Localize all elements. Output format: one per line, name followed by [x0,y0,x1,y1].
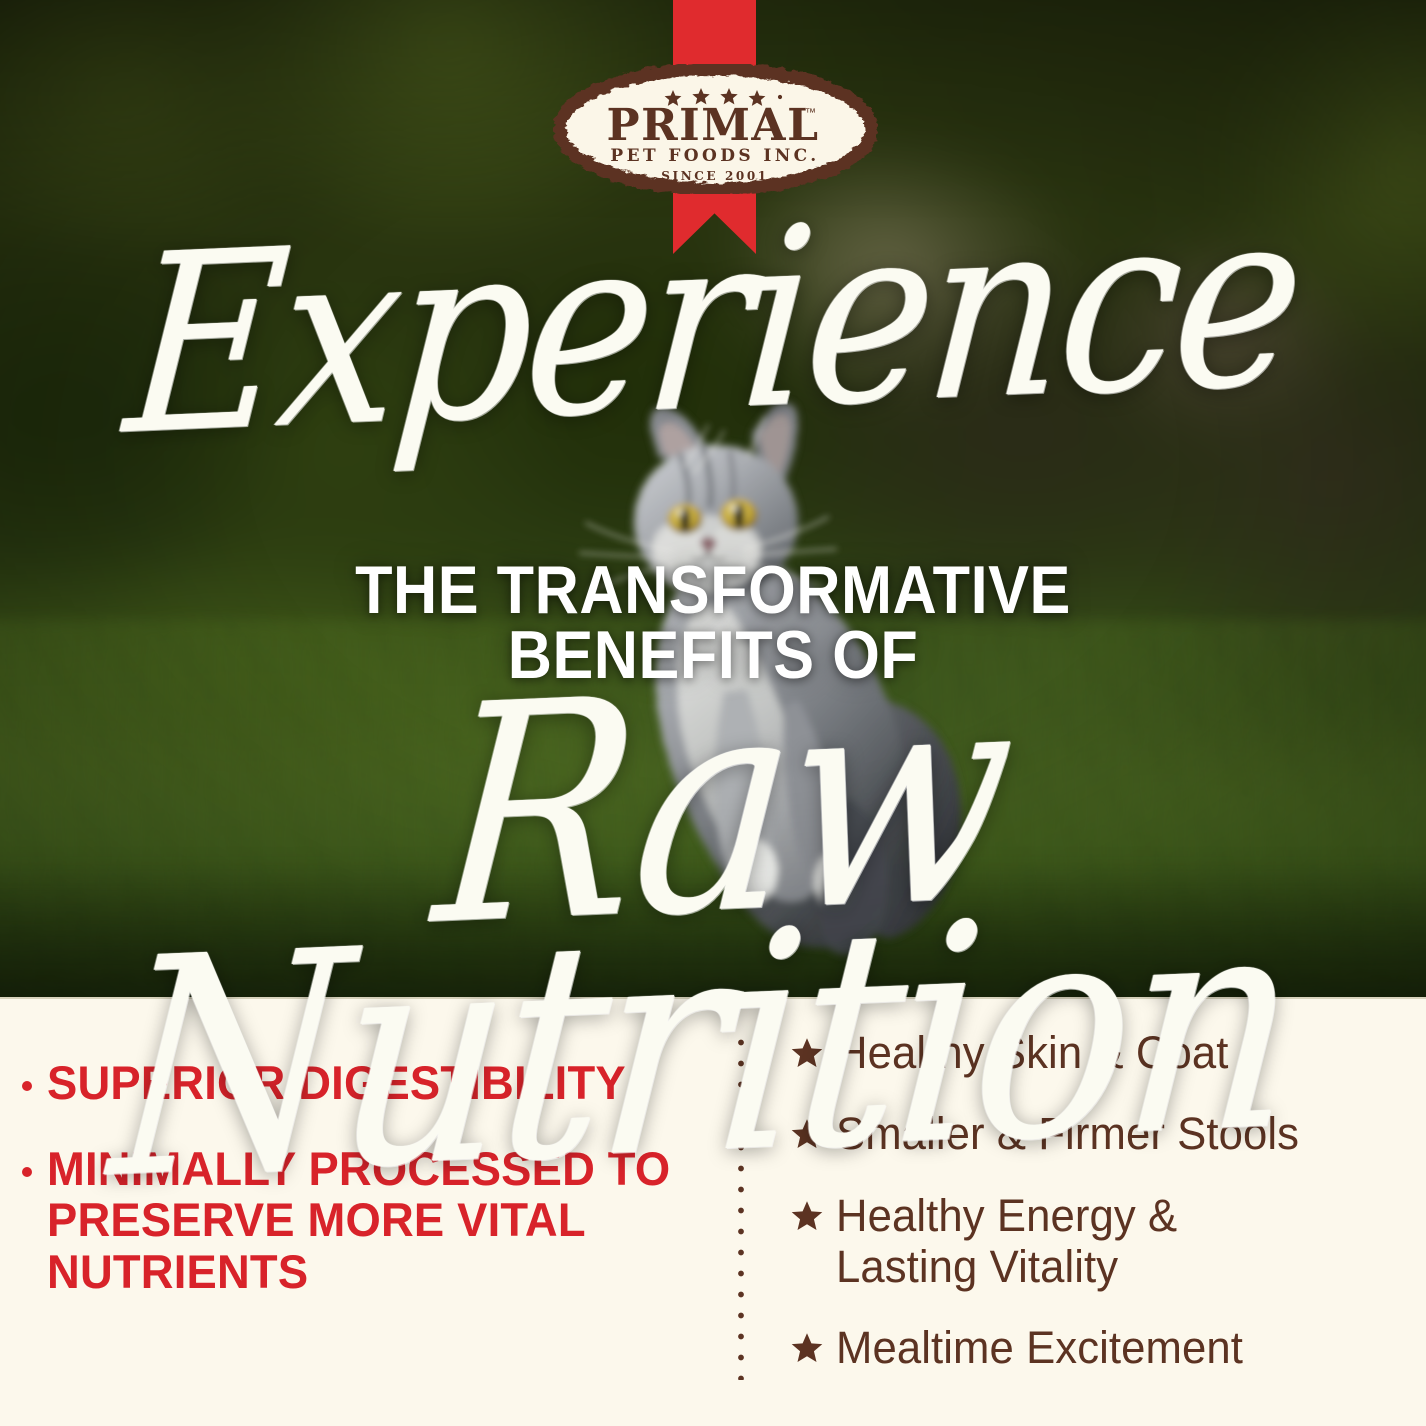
headline-script-raw-nutrition: Raw Nutrition [0,716,1426,1135]
list-item: Mealtime Excitement [790,1322,1400,1373]
primal-pet-foods-logo[interactable]: PRIMAL ™ PET FOODS INC. SINCE 2001 [553,64,878,194]
benefit-mealtime-excitement: Mealtime Excitement [836,1322,1243,1373]
logo-since: SINCE 2001 [661,169,769,183]
headline-line-transformative: THE TRANSFORMATIVE [71,558,1354,623]
logo-brand-name: PRIMAL [606,100,819,151]
star-bullet-icon [790,1331,824,1365]
headline-raw-nutrition-text: Raw Nutrition [0,656,1426,1196]
logo-trademark: ™ [805,107,816,119]
logo-subtitle: PET FOODS INC. [610,146,819,166]
promotional-poster: PRIMAL ™ PET FOODS INC. SINCE 2001 Exper… [0,0,1426,1426]
